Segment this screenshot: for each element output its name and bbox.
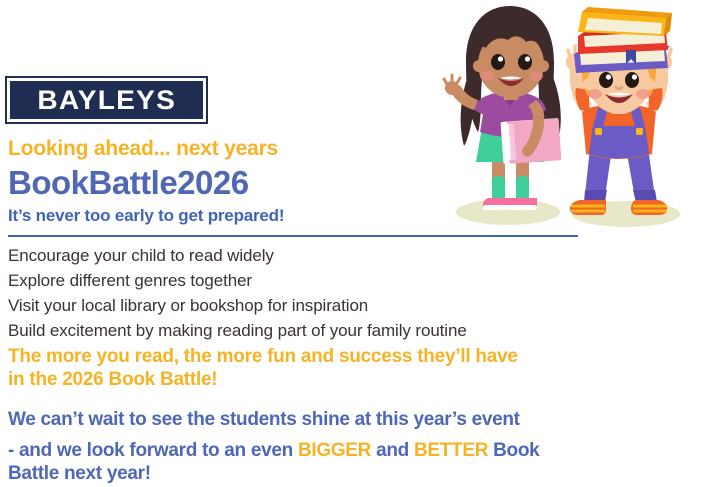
closing-text-a: - and we look forward to an even <box>8 440 298 461</box>
list-item: Visit your local library or bookshop for… <box>8 293 658 318</box>
boy-eye-right <box>625 72 639 88</box>
emphasis-message: The more you read, the more fun and succ… <box>8 345 648 391</box>
closing-line-2: - and we look forward to an even BIGGER … <box>8 439 658 462</box>
list-item: Encourage your child to read widely <box>8 243 658 268</box>
closing-line-1: We can’t wait to see the students shine … <box>8 408 658 431</box>
closing-text-c: Book <box>488 440 539 461</box>
emphasis-line-1: The more you read, the more fun and succ… <box>8 345 648 368</box>
logo-inner-panel: BAYLEYS <box>10 81 203 119</box>
accent-bigger: BIGGER <box>298 440 371 461</box>
bayleys-logo: BAYLEYS <box>5 76 208 124</box>
accent-better: BETTER <box>414 440 488 461</box>
boy-book-stack <box>574 7 672 73</box>
closing-line-3: Battle next year! <box>8 462 658 485</box>
emphasis-line-2: in the 2026 Book Battle! <box>8 368 648 391</box>
girl-eye-left <box>491 54 505 70</box>
logo-wordmark: BAYLEYS <box>37 87 176 114</box>
list-item: Build excitement by making reading part … <box>8 318 658 343</box>
boy-eye-left <box>599 72 613 88</box>
list-item: Explore different genres together <box>8 268 658 293</box>
girl-eye-right <box>518 54 532 70</box>
boy-character <box>566 7 672 215</box>
kids-illustration <box>430 0 706 240</box>
girl-character <box>444 6 561 210</box>
closing-message: We can’t wait to see the students shine … <box>8 408 658 485</box>
tips-list: Encourage your child to read widely Expl… <box>8 243 658 343</box>
closing-text-b: and <box>371 440 414 461</box>
